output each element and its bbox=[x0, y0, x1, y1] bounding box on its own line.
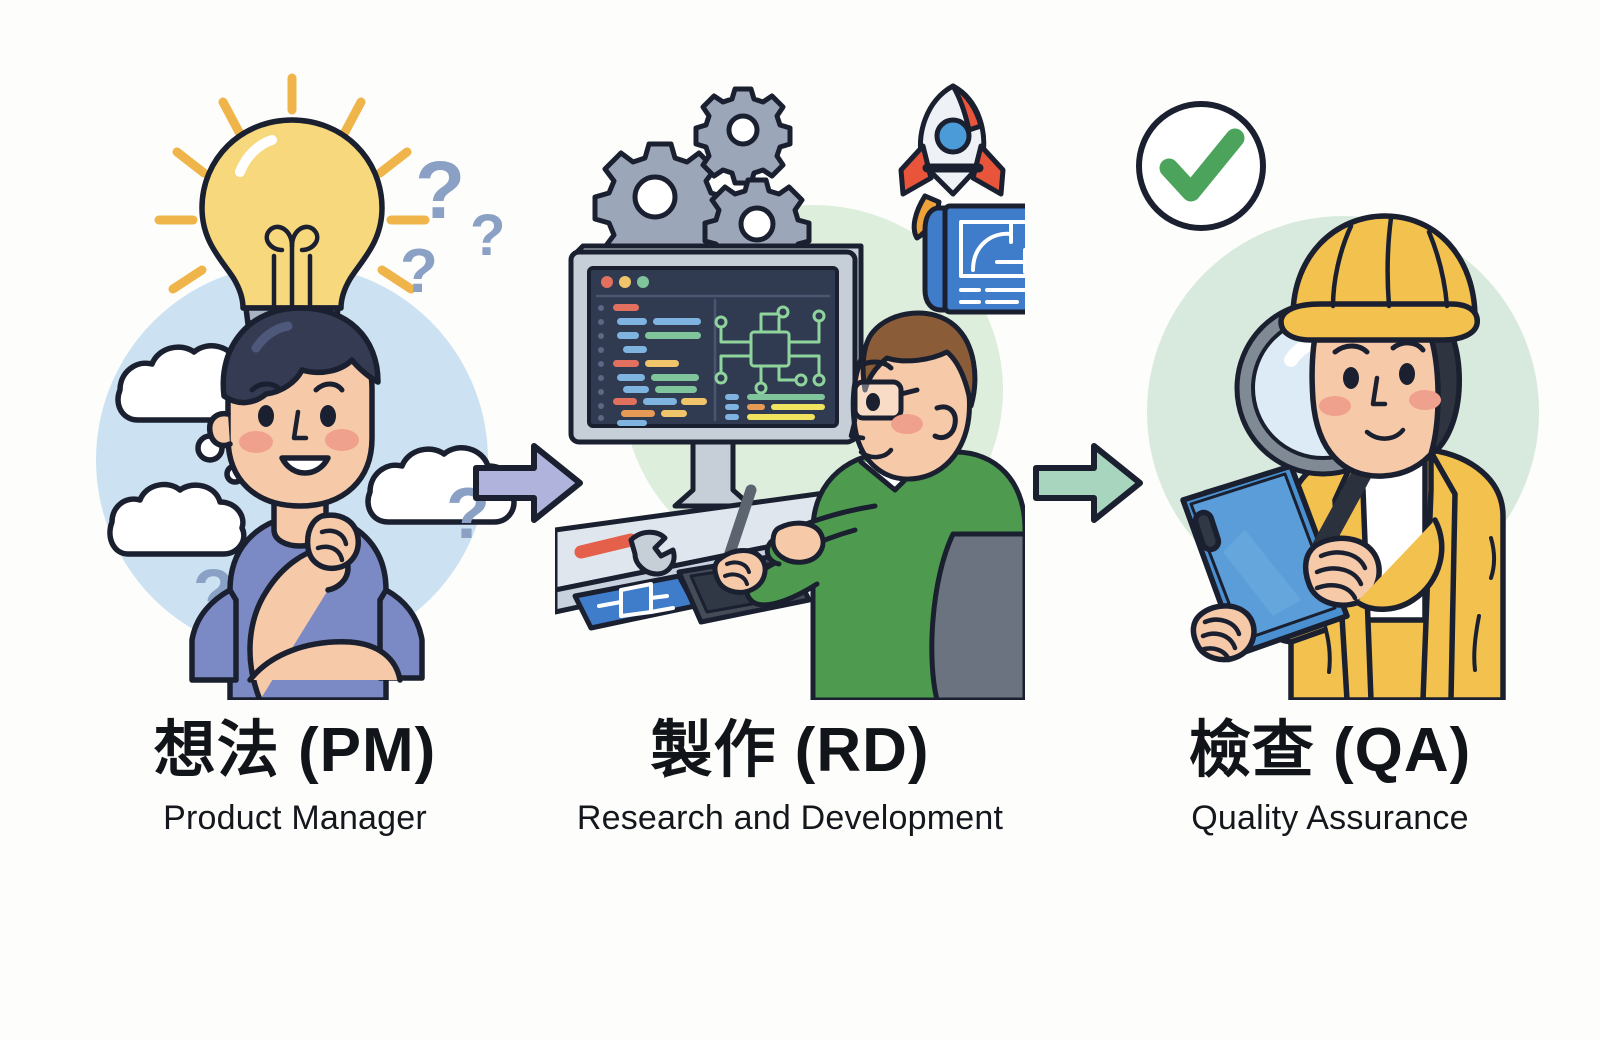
qa-eye-left bbox=[1343, 367, 1359, 389]
svg-text:?: ? bbox=[415, 145, 465, 236]
pm-eye-left bbox=[258, 405, 274, 427]
rd-title-cn: 製作 (RD) bbox=[555, 718, 1025, 783]
svg-text:?: ? bbox=[400, 237, 438, 306]
pm-eye-right bbox=[320, 405, 336, 427]
svg-text:?: ? bbox=[470, 203, 505, 268]
qa-title-cn: 檢查 (QA) bbox=[1095, 718, 1565, 783]
qa-caption: 檢查 (QA) Quality Assurance bbox=[1095, 718, 1565, 838]
qa-eye-right bbox=[1399, 363, 1415, 385]
rd-hand-stylus bbox=[715, 551, 765, 593]
rd-eye bbox=[866, 393, 880, 411]
rd-ear bbox=[935, 407, 955, 438]
stage-panel-qa: 檢查 (QA) Quality Assurance bbox=[1095, 0, 1565, 900]
qa-illustration bbox=[1095, 60, 1565, 700]
office-chair bbox=[932, 534, 1025, 700]
pm-cheek-left bbox=[239, 431, 273, 453]
pm-subtitle-en: Product Manager bbox=[60, 799, 530, 838]
screen-dot-red bbox=[601, 276, 613, 288]
pm-title-cn: 想法 (PM) bbox=[60, 718, 530, 783]
rd-hand-mouse bbox=[773, 523, 823, 562]
hard-hat-brim bbox=[1281, 304, 1477, 340]
qa-cheek-right bbox=[1409, 390, 1441, 410]
blueprint-icon bbox=[925, 206, 1025, 312]
pm-cheek-right bbox=[325, 429, 359, 451]
rd-caption: 製作 (RD) Research and Development bbox=[555, 718, 1025, 838]
gear-small-top bbox=[696, 89, 790, 183]
rd-illustration bbox=[555, 60, 1025, 700]
qa-cheek-left bbox=[1319, 396, 1351, 416]
screen-dot-green bbox=[637, 276, 649, 288]
rd-cheek bbox=[891, 414, 923, 434]
qa-subtitle-en: Quality Assurance bbox=[1095, 799, 1565, 838]
pm-illustration: ? ? ? ? ? bbox=[60, 60, 530, 700]
rocket-window bbox=[937, 120, 969, 152]
screen-dot-yellow bbox=[619, 276, 631, 288]
pm-caption: 想法 (PM) Product Manager bbox=[60, 718, 530, 838]
pm-ear bbox=[210, 414, 230, 446]
pm-hand-chin bbox=[308, 515, 359, 568]
stage-panel-rd: 製作 (RD) Research and Development bbox=[555, 0, 1025, 900]
rd-subtitle-en: Research and Development bbox=[555, 799, 1025, 838]
stage-panel-pm: ? ? ? ? ? bbox=[60, 0, 530, 900]
workflow-diagram: ? ? ? ? ? bbox=[0, 0, 1600, 1040]
